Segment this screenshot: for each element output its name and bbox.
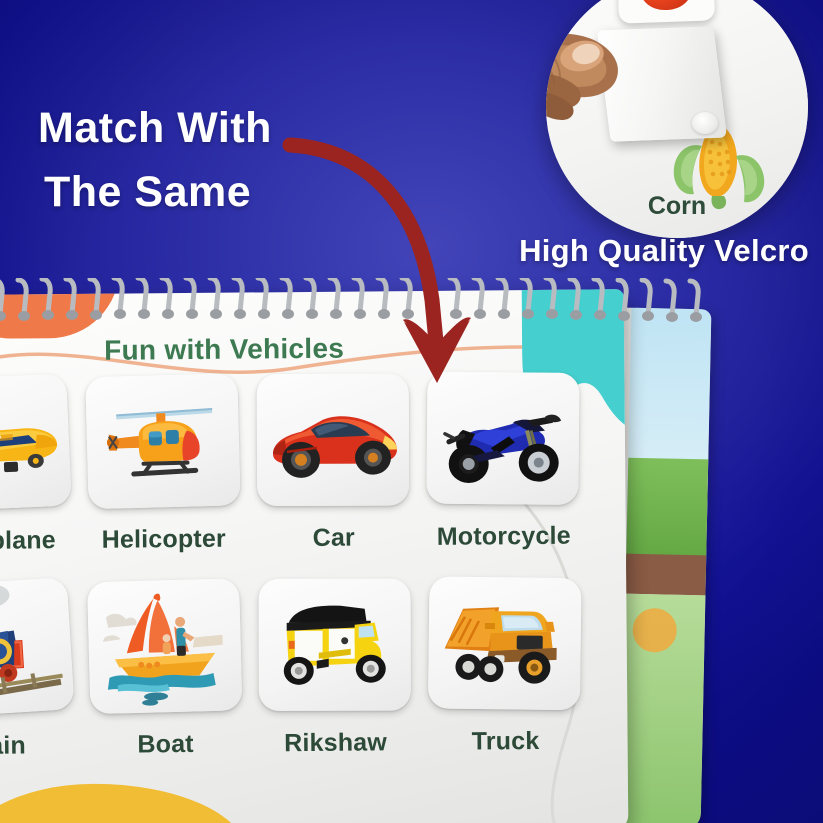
card-row-2: Train <box>0 576 628 787</box>
card-label: Helicopter <box>84 525 244 555</box>
card-cell-aeroplane[interactable]: Aeroplane <box>0 376 74 556</box>
card-cell-helicopter[interactable]: Helicopter <box>82 375 244 555</box>
velcro-dot <box>692 112 718 134</box>
motorcycle-icon <box>426 372 579 505</box>
activity-book: Fun with Vehicles <box>0 292 726 823</box>
truck-icon <box>428 576 582 710</box>
card-label: Boat <box>85 730 245 760</box>
helicopter-card[interactable] <box>85 373 240 509</box>
train-card[interactable] <box>0 577 75 718</box>
card-cell-train[interactable]: Train <box>0 581 76 761</box>
card-label: Motorcycle <box>424 522 584 552</box>
motorcycle-card[interactable] <box>426 372 579 505</box>
truck-card[interactable] <box>428 576 582 710</box>
train-icon <box>0 577 75 718</box>
velcro-inset: Corn <box>546 0 808 238</box>
aeroplane-card[interactable] <box>0 373 72 512</box>
card-label: Aeroplane <box>0 526 74 556</box>
card-label: Truck <box>425 727 585 757</box>
spiral-binding <box>0 278 714 336</box>
vehicle-card-grid: Aeroplane <box>0 371 628 787</box>
car-icon <box>257 373 409 506</box>
tomato-icon <box>639 0 693 11</box>
yellow-blob-decor <box>0 783 249 823</box>
corn-label: Corn <box>546 192 808 221</box>
boat-icon <box>87 578 242 714</box>
card-cell-car[interactable]: Car <box>252 373 414 553</box>
car-card[interactable] <box>257 373 409 506</box>
aeroplane-icon <box>0 373 72 512</box>
rikshaw-icon <box>259 579 411 711</box>
headline-line-1: Match With <box>38 96 272 160</box>
book-page: Fun with Vehicles <box>0 289 628 823</box>
helicopter-icon <box>85 373 240 509</box>
headline-line-2: The Same <box>38 160 272 224</box>
card-cell-motorcycle[interactable]: Motorcycle <box>422 372 584 552</box>
card-row-1: Aeroplane <box>0 371 626 582</box>
hand-icon <box>546 14 690 164</box>
headline: Match With The Same <box>38 96 272 224</box>
rikshaw-card[interactable] <box>259 579 411 711</box>
velcro-caption: High Quality Velcro <box>519 233 809 269</box>
product-promo-image: Fun with Vehicles <box>0 0 823 823</box>
card-cell-boat[interactable]: Boat <box>84 580 246 760</box>
card-cell-rikshaw[interactable]: Rikshaw <box>254 578 416 758</box>
card-label: Car <box>254 523 414 553</box>
page-title: Fun with Vehicles <box>104 333 344 367</box>
card-label: Rikshaw <box>255 728 415 758</box>
card-label: Train <box>0 731 76 761</box>
behind-road <box>625 554 706 596</box>
card-cell-truck[interactable]: Truck <box>424 577 586 757</box>
boat-card[interactable] <box>87 578 242 714</box>
